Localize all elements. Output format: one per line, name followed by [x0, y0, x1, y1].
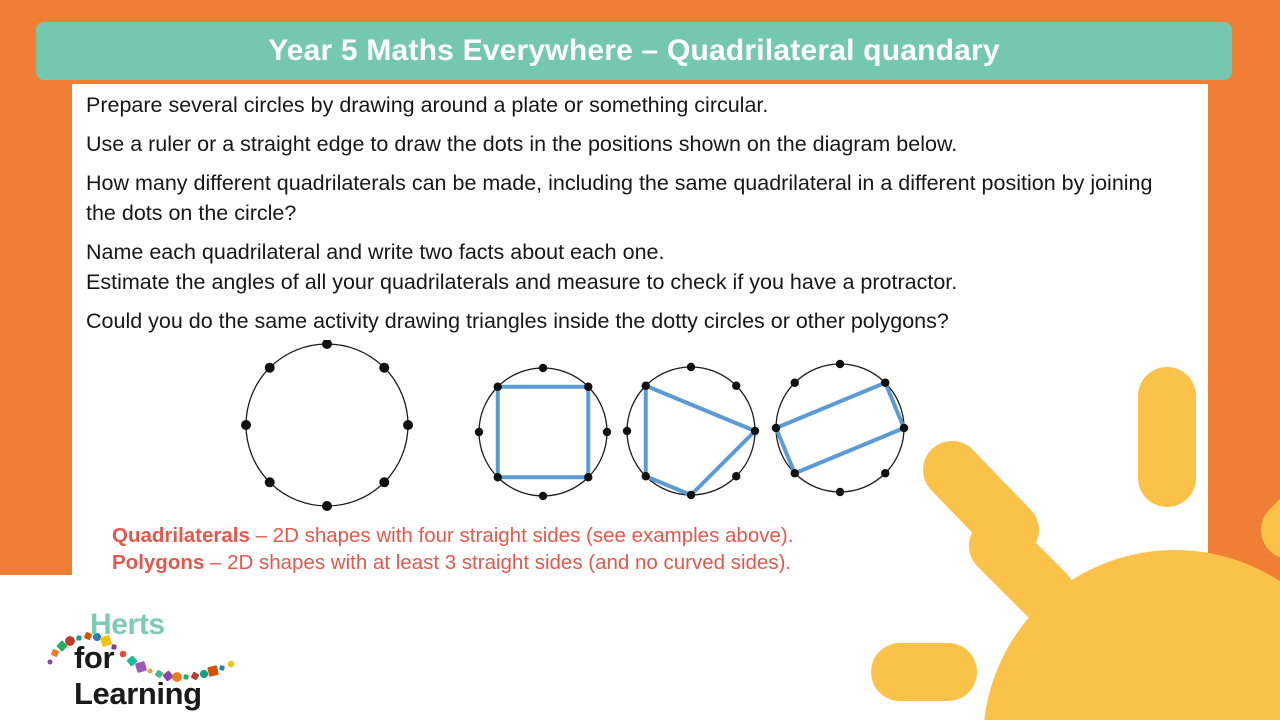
orange-border-right [1208, 0, 1280, 720]
definition-polygons: Polygons – 2D shapes with at least 3 str… [112, 549, 793, 576]
circle-rectangle-tilted-dot [772, 424, 780, 432]
circle-square-quadrilateral [498, 387, 589, 478]
definitions-block: Quadrilaterals – 2D shapes with four str… [112, 522, 793, 576]
instruction-paragraph-2: Use a ruler or a straight edge to draw t… [86, 129, 1186, 159]
body-text-block: Prepare several circles by drawing aroun… [86, 90, 1186, 345]
circle-irregular-quadrilateral-dot [687, 491, 695, 499]
circle-square-dot [584, 383, 592, 391]
circle-rectangle-tilted-quadrilateral [776, 383, 904, 474]
logo-swoosh-dot [48, 660, 53, 665]
circle-square-dot [494, 473, 502, 481]
circle-plain-eight-dots-dot [241, 420, 251, 430]
circle-irregular-quadrilateral-dot [642, 472, 650, 480]
logo-text-herts: Herts [90, 608, 165, 642]
circle-square-dot [494, 383, 502, 391]
logo-swoosh-dot [51, 649, 60, 658]
circle-plain-eight-dots-dot [322, 501, 332, 511]
circle-square-dot [539, 364, 547, 372]
circle-rectangle-tilted-dot [881, 379, 889, 387]
definition-text-quadrilaterals: 2D shapes with four straight sides (see … [273, 524, 794, 547]
instruction-paragraph-3: How many different quadrilaterals can be… [86, 168, 1186, 228]
herts-for-learning-logo: Herts for Learning [28, 600, 243, 700]
circle-plain-eight-dots-dot [403, 420, 413, 430]
instruction-paragraph-1: Prepare several circles by drawing aroun… [86, 90, 1186, 120]
slide-root: Year 5 Maths Everywhere – Quadrilateral … [0, 0, 1280, 720]
circle-irregular-quadrilateral-dot [623, 427, 631, 435]
orange-border-left [0, 0, 72, 575]
title-banner: Year 5 Maths Everywhere – Quadrilateral … [36, 22, 1232, 80]
definition-term-quadrilaterals: Quadrilaterals [112, 524, 250, 547]
circle-rectangle-tilted-dot [836, 488, 844, 496]
circle-rectangle-tilted-dot [791, 469, 799, 477]
circle-diagrams [86, 340, 1186, 515]
circle-square-dot [584, 473, 592, 481]
circle-rectangle-tilted-dot [791, 379, 799, 387]
definition-dash-quadrilaterals: – [250, 524, 273, 547]
circle-plain-eight-dots-dot [379, 363, 389, 373]
circle-irregular-quadrilateral-dot [732, 472, 740, 480]
definition-text-polygons: 2D shapes with at least 3 straight sides… [227, 551, 791, 574]
definition-dash-polygons: – [204, 551, 227, 574]
instruction-paragraph-6: Could you do the same activity drawing t… [86, 306, 1186, 336]
instruction-paragraph-4: Name each quadrilateral and write two fa… [86, 237, 1186, 267]
definition-term-polygons: Polygons [112, 551, 204, 574]
circle-irregular-quadrilateral-dot [687, 363, 695, 371]
circle-square-dot [475, 428, 483, 436]
circle-plain-eight-dots-dot [379, 477, 389, 487]
circle-irregular-quadrilateral-dot [751, 427, 759, 435]
circle-square-dot [603, 428, 611, 436]
circle-rectangle-tilted-dot [881, 469, 889, 477]
circle-rectangle-tilted-dot [836, 360, 844, 368]
page-title: Year 5 Maths Everywhere – Quadrilateral … [268, 34, 1000, 68]
circle-plain-eight-dots-dot [265, 363, 275, 373]
circle-irregular-quadrilateral-dot [642, 382, 650, 390]
circle-rectangle-tilted-dot [900, 424, 908, 432]
circle-irregular-quadrilateral-dot [732, 382, 740, 390]
circle-plain-eight-dots-dot [322, 340, 332, 349]
circle-plain-eight-dots-dot [265, 477, 275, 487]
logo-text-for-learning: for Learning [74, 640, 243, 712]
circle-square-dot [539, 492, 547, 500]
instruction-paragraph-5: Estimate the angles of all your quadrila… [86, 267, 1186, 297]
definition-quadrilaterals: Quadrilaterals – 2D shapes with four str… [112, 522, 793, 549]
